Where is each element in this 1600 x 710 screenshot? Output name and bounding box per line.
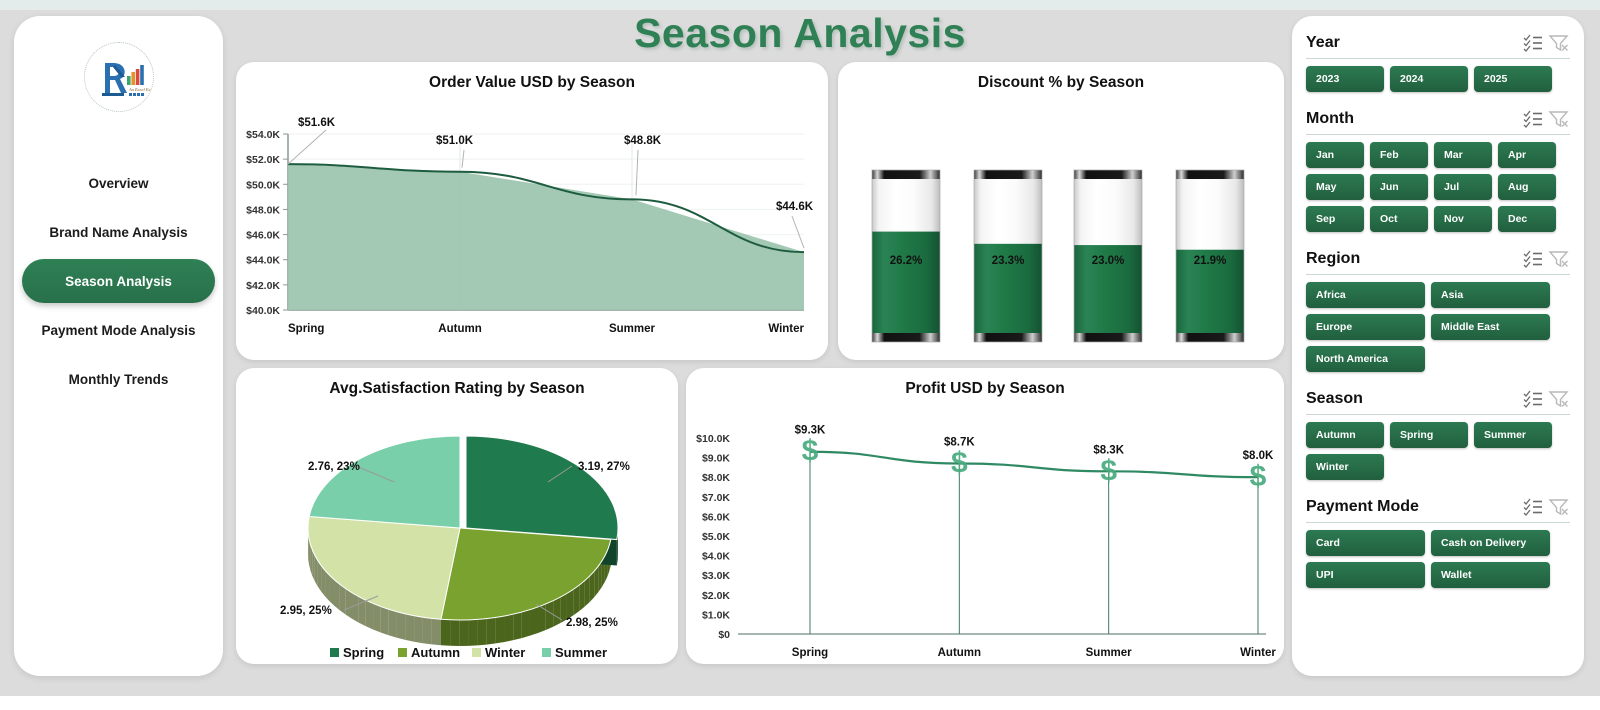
filter-chip-upi[interactable]: UPI bbox=[1306, 562, 1425, 588]
divider bbox=[1306, 274, 1570, 275]
filter-chip-summer[interactable]: Summer bbox=[1474, 422, 1552, 448]
filter-title: Payment Mode bbox=[1306, 498, 1518, 516]
svg-text:21.9%: 21.9% bbox=[1194, 255, 1227, 267]
svg-text:$51.0K: $51.0K bbox=[436, 135, 474, 147]
svg-text:$: $ bbox=[1100, 454, 1117, 487]
svg-text:$8.7K: $8.7K bbox=[944, 436, 975, 448]
filter-title: Season bbox=[1306, 390, 1518, 408]
filter-chip-asia[interactable]: Asia bbox=[1431, 282, 1550, 308]
sidebar: An Excel Expert Overview Brand Name Anal… bbox=[14, 16, 223, 676]
filter-group-month: Month Jan Feb Mar bbox=[1306, 106, 1570, 232]
filter-title: Month bbox=[1306, 110, 1518, 128]
svg-text:2.76, 23%: 2.76, 23% bbox=[308, 461, 360, 473]
payment-mode-chips: Card Cash on Delivery UPI Wallet bbox=[1306, 530, 1570, 588]
svg-text:$46.0K: $46.0K bbox=[246, 230, 280, 242]
svg-text:3.19, 27%: 3.19, 27% bbox=[578, 461, 630, 473]
svg-text:$44.0K: $44.0K bbox=[246, 255, 280, 267]
svg-text:Summer: Summer bbox=[609, 323, 656, 335]
svg-text:2.95, 25%: 2.95, 25% bbox=[280, 605, 332, 617]
filter-group-region: Region Africa Asia Euro bbox=[1306, 246, 1570, 372]
order-value-area-chart: $40.0K$42.0K$44.0K$46.0K$48.0K$50.0K$52.… bbox=[236, 92, 828, 354]
svg-text:$42.0K: $42.0K bbox=[246, 280, 280, 292]
season-chips: Autumn Spring Summer Winter bbox=[1306, 422, 1570, 480]
filter-chip-aug[interactable]: Aug bbox=[1498, 174, 1556, 200]
filter-chip-jun[interactable]: Jun bbox=[1370, 174, 1428, 200]
svg-text:$8.0K: $8.0K bbox=[702, 472, 730, 484]
svg-text:$44.6K: $44.6K bbox=[776, 201, 814, 213]
svg-text:Spring: Spring bbox=[288, 323, 324, 335]
filter-group-payment-mode: Payment Mode Card Cash on Deliv bbox=[1306, 494, 1570, 588]
filter-group-season: Season Autumn Spring Su bbox=[1306, 386, 1570, 480]
chart-title: Discount % by Season bbox=[838, 62, 1284, 92]
svg-text:Summer: Summer bbox=[555, 645, 607, 660]
divider bbox=[1306, 134, 1570, 135]
filter-chip-cash-on-delivery[interactable]: Cash on Delivery bbox=[1431, 530, 1550, 556]
svg-text:23.0%: 23.0% bbox=[1092, 255, 1125, 267]
svg-text:$8.0K: $8.0K bbox=[1243, 450, 1274, 462]
sidebar-item-label: Season Analysis bbox=[65, 274, 172, 289]
sidebar-item-label: Overview bbox=[88, 176, 148, 191]
satisfaction-chart-card: Avg.Satisfaction Rating by Season 3.19, … bbox=[236, 368, 678, 664]
discount-cylinder-chart: 26.2%Summer23.3%Winter23.0%Spring21.9%Au… bbox=[838, 92, 1284, 354]
multi-select-checklist-icon[interactable] bbox=[1522, 389, 1544, 409]
svg-text:$3.0K: $3.0K bbox=[702, 570, 730, 582]
top-accent-strip bbox=[0, 0, 1600, 10]
svg-text:$52.0K: $52.0K bbox=[246, 154, 280, 166]
sidebar-item-overview[interactable]: Overview bbox=[14, 161, 223, 205]
sidebar-item-label: Payment Mode Analysis bbox=[41, 323, 195, 338]
svg-text:Winter: Winter bbox=[485, 645, 525, 660]
filter-chip-oct[interactable]: Oct bbox=[1370, 206, 1428, 232]
month-chips: Jan Feb Mar Apr May Jun Jul Aug Sep Oct … bbox=[1306, 142, 1570, 232]
year-chips: 2023 2024 2025 bbox=[1306, 66, 1570, 92]
filter-chip-dec[interactable]: Dec bbox=[1498, 206, 1556, 232]
svg-text:$9.0K: $9.0K bbox=[702, 453, 730, 465]
profit-line-chart: $0$1.0K$2.0K$3.0K$4.0K$5.0K$6.0K$7.0K$8.… bbox=[686, 398, 1284, 660]
multi-select-checklist-icon[interactable] bbox=[1522, 497, 1544, 517]
chart-title: Order Value USD by Season bbox=[236, 62, 828, 92]
filter-chip-sep[interactable]: Sep bbox=[1306, 206, 1364, 232]
sidebar-item-season-analysis[interactable]: Season Analysis bbox=[22, 259, 215, 303]
svg-text:$8.3K: $8.3K bbox=[1093, 444, 1124, 456]
divider bbox=[1306, 414, 1570, 415]
divider bbox=[1306, 58, 1570, 59]
svg-text:$6.0K: $6.0K bbox=[702, 511, 730, 523]
svg-text:$: $ bbox=[802, 435, 819, 468]
filter-title: Region bbox=[1306, 250, 1518, 268]
svg-text:$10.0K: $10.0K bbox=[696, 433, 730, 445]
svg-text:$9.3K: $9.3K bbox=[795, 425, 826, 437]
filter-chip-2025[interactable]: 2025 bbox=[1474, 66, 1552, 92]
svg-text:$2.0K: $2.0K bbox=[702, 590, 730, 602]
filter-chip-jan[interactable]: Jan bbox=[1306, 142, 1364, 168]
profit-chart-card: Profit USD by Season $0$1.0K$2.0K$3.0K$4… bbox=[686, 368, 1284, 664]
clear-filter-funnel-icon[interactable] bbox=[1548, 33, 1570, 53]
filter-chip-may[interactable]: May bbox=[1306, 174, 1364, 200]
filter-chip-europe[interactable]: Europe bbox=[1306, 314, 1425, 340]
filter-chip-winter[interactable]: Winter bbox=[1306, 454, 1384, 480]
multi-select-checklist-icon[interactable] bbox=[1522, 33, 1544, 53]
filter-title: Year bbox=[1306, 34, 1518, 52]
clear-filter-funnel-icon[interactable] bbox=[1548, 497, 1570, 517]
dashboard-root: An Excel Expert Overview Brand Name Anal… bbox=[0, 0, 1600, 710]
order-value-chart-card: Order Value USD by Season $40.0K$42.0K$4… bbox=[236, 62, 828, 360]
region-chips: Africa Asia Europe Middle East North Ame… bbox=[1306, 282, 1570, 372]
sidebar-item-payment-mode-analysis[interactable]: Payment Mode Analysis bbox=[14, 308, 223, 352]
filter-group-year: Year 2023 2024 2025 bbox=[1306, 30, 1570, 92]
chart-title: Profit USD by Season bbox=[686, 368, 1284, 398]
svg-text:$48.8K: $48.8K bbox=[624, 135, 662, 147]
svg-text:$0: $0 bbox=[718, 629, 730, 641]
svg-text:$54.0K: $54.0K bbox=[246, 129, 280, 141]
filter-panel: Year 2023 2024 2025 bbox=[1292, 16, 1584, 676]
svg-text:Autumn: Autumn bbox=[938, 647, 981, 659]
svg-text:Summer: Summer bbox=[1086, 647, 1133, 659]
sidebar-item-label: Brand Name Analysis bbox=[49, 225, 187, 240]
filter-chip-wallet[interactable]: Wallet bbox=[1431, 562, 1550, 588]
filter-chip-autumn[interactable]: Autumn bbox=[1306, 422, 1384, 448]
filter-chip-north-america[interactable]: North America bbox=[1306, 346, 1425, 372]
divider bbox=[1306, 522, 1570, 523]
sidebar-item-monthly-trends[interactable]: Monthly Trends bbox=[14, 357, 223, 401]
filter-chip-mar[interactable]: Mar bbox=[1434, 142, 1492, 168]
filter-chip-2023[interactable]: 2023 bbox=[1306, 66, 1384, 92]
svg-text:Spring: Spring bbox=[792, 647, 828, 659]
clear-filter-funnel-icon[interactable] bbox=[1548, 109, 1570, 129]
svg-text:2.98, 25%: 2.98, 25% bbox=[566, 617, 618, 629]
chart-title: Avg.Satisfaction Rating by Season bbox=[236, 368, 678, 398]
svg-text:$5.0K: $5.0K bbox=[702, 531, 730, 543]
multi-select-checklist-icon[interactable] bbox=[1522, 109, 1544, 129]
svg-text:$40.0K: $40.0K bbox=[246, 305, 280, 317]
svg-text:$1.0K: $1.0K bbox=[702, 609, 730, 621]
clear-filter-funnel-icon[interactable] bbox=[1548, 249, 1570, 269]
svg-text:$: $ bbox=[1250, 460, 1267, 493]
svg-text:Spring: Spring bbox=[343, 645, 384, 660]
svg-text:$50.0K: $50.0K bbox=[246, 179, 280, 191]
svg-text:Autumn: Autumn bbox=[438, 323, 481, 335]
sidebar-nav: Overview Brand Name Analysis Season Anal… bbox=[14, 161, 223, 406]
filter-chip-africa[interactable]: Africa bbox=[1306, 282, 1425, 308]
svg-text:Winter: Winter bbox=[1240, 647, 1276, 659]
filter-chip-jul[interactable]: Jul bbox=[1434, 174, 1492, 200]
satisfaction-pie-chart: 3.19, 27%2.98, 25%2.95, 25%2.76, 23%Spri… bbox=[236, 398, 678, 660]
sidebar-item-brand-name-analysis[interactable]: Brand Name Analysis bbox=[14, 210, 223, 254]
sidebar-item-label: Monthly Trends bbox=[69, 372, 169, 387]
filter-chip-2024[interactable]: 2024 bbox=[1390, 66, 1468, 92]
multi-select-checklist-icon[interactable] bbox=[1522, 249, 1544, 269]
svg-text:$: $ bbox=[951, 446, 968, 479]
svg-text:$7.0K: $7.0K bbox=[702, 492, 730, 504]
filter-chip-nov[interactable]: Nov bbox=[1434, 206, 1492, 232]
filter-chip-middle-east[interactable]: Middle East bbox=[1431, 314, 1550, 340]
svg-text:$4.0K: $4.0K bbox=[702, 551, 730, 563]
filter-chip-apr[interactable]: Apr bbox=[1498, 142, 1556, 168]
bottom-strip bbox=[0, 696, 1600, 710]
svg-text:23.3%: 23.3% bbox=[992, 255, 1025, 267]
svg-text:Winter: Winter bbox=[768, 323, 804, 335]
clear-filter-funnel-icon[interactable] bbox=[1548, 389, 1570, 409]
svg-text:26.2%: 26.2% bbox=[890, 255, 923, 267]
svg-text:$51.6K: $51.6K bbox=[298, 117, 336, 129]
discount-chart-card: Discount % by Season 26.2%Summer23.3%Win… bbox=[838, 62, 1284, 360]
filter-chip-card[interactable]: Card bbox=[1306, 530, 1425, 556]
svg-text:Autumn: Autumn bbox=[411, 645, 460, 660]
filter-chip-spring[interactable]: Spring bbox=[1390, 422, 1468, 448]
filter-chip-feb[interactable]: Feb bbox=[1370, 142, 1428, 168]
svg-text:$48.0K: $48.0K bbox=[246, 204, 280, 216]
svg-text:An Excel Expert: An Excel Expert bbox=[128, 87, 154, 92]
